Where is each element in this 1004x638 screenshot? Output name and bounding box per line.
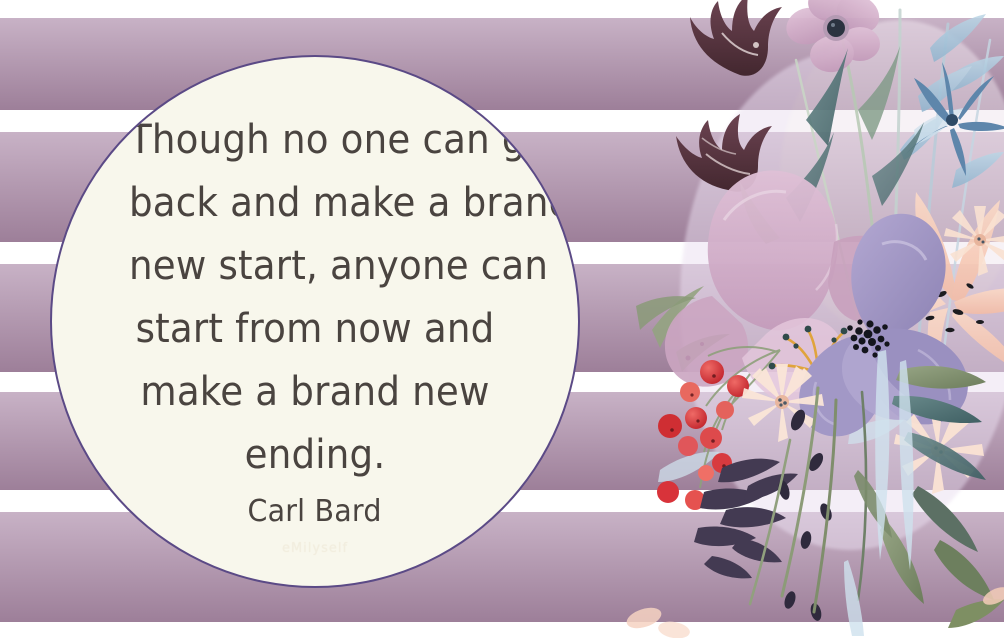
quote-circle-card: Though no one can goback and make a bran…: [50, 55, 580, 588]
quote-line: make a brand new: [129, 361, 501, 424]
quote-image-canvas: Though no one can goback and make a bran…: [0, 0, 1004, 638]
quote-line: Though no one can go: [129, 109, 501, 172]
watermark-logo: eMilyself: [282, 541, 348, 556]
quote-line: back and make a brand: [129, 172, 501, 235]
quote-line: ending.: [129, 424, 501, 487]
background-stripe: [0, 18, 1004, 110]
quote-text: Though no one can goback and make a bran…: [129, 109, 501, 487]
quote-author: Carl Bard: [248, 493, 382, 531]
quote-line: start from now and: [129, 298, 501, 361]
quote-line: new start, anyone can: [129, 235, 501, 298]
